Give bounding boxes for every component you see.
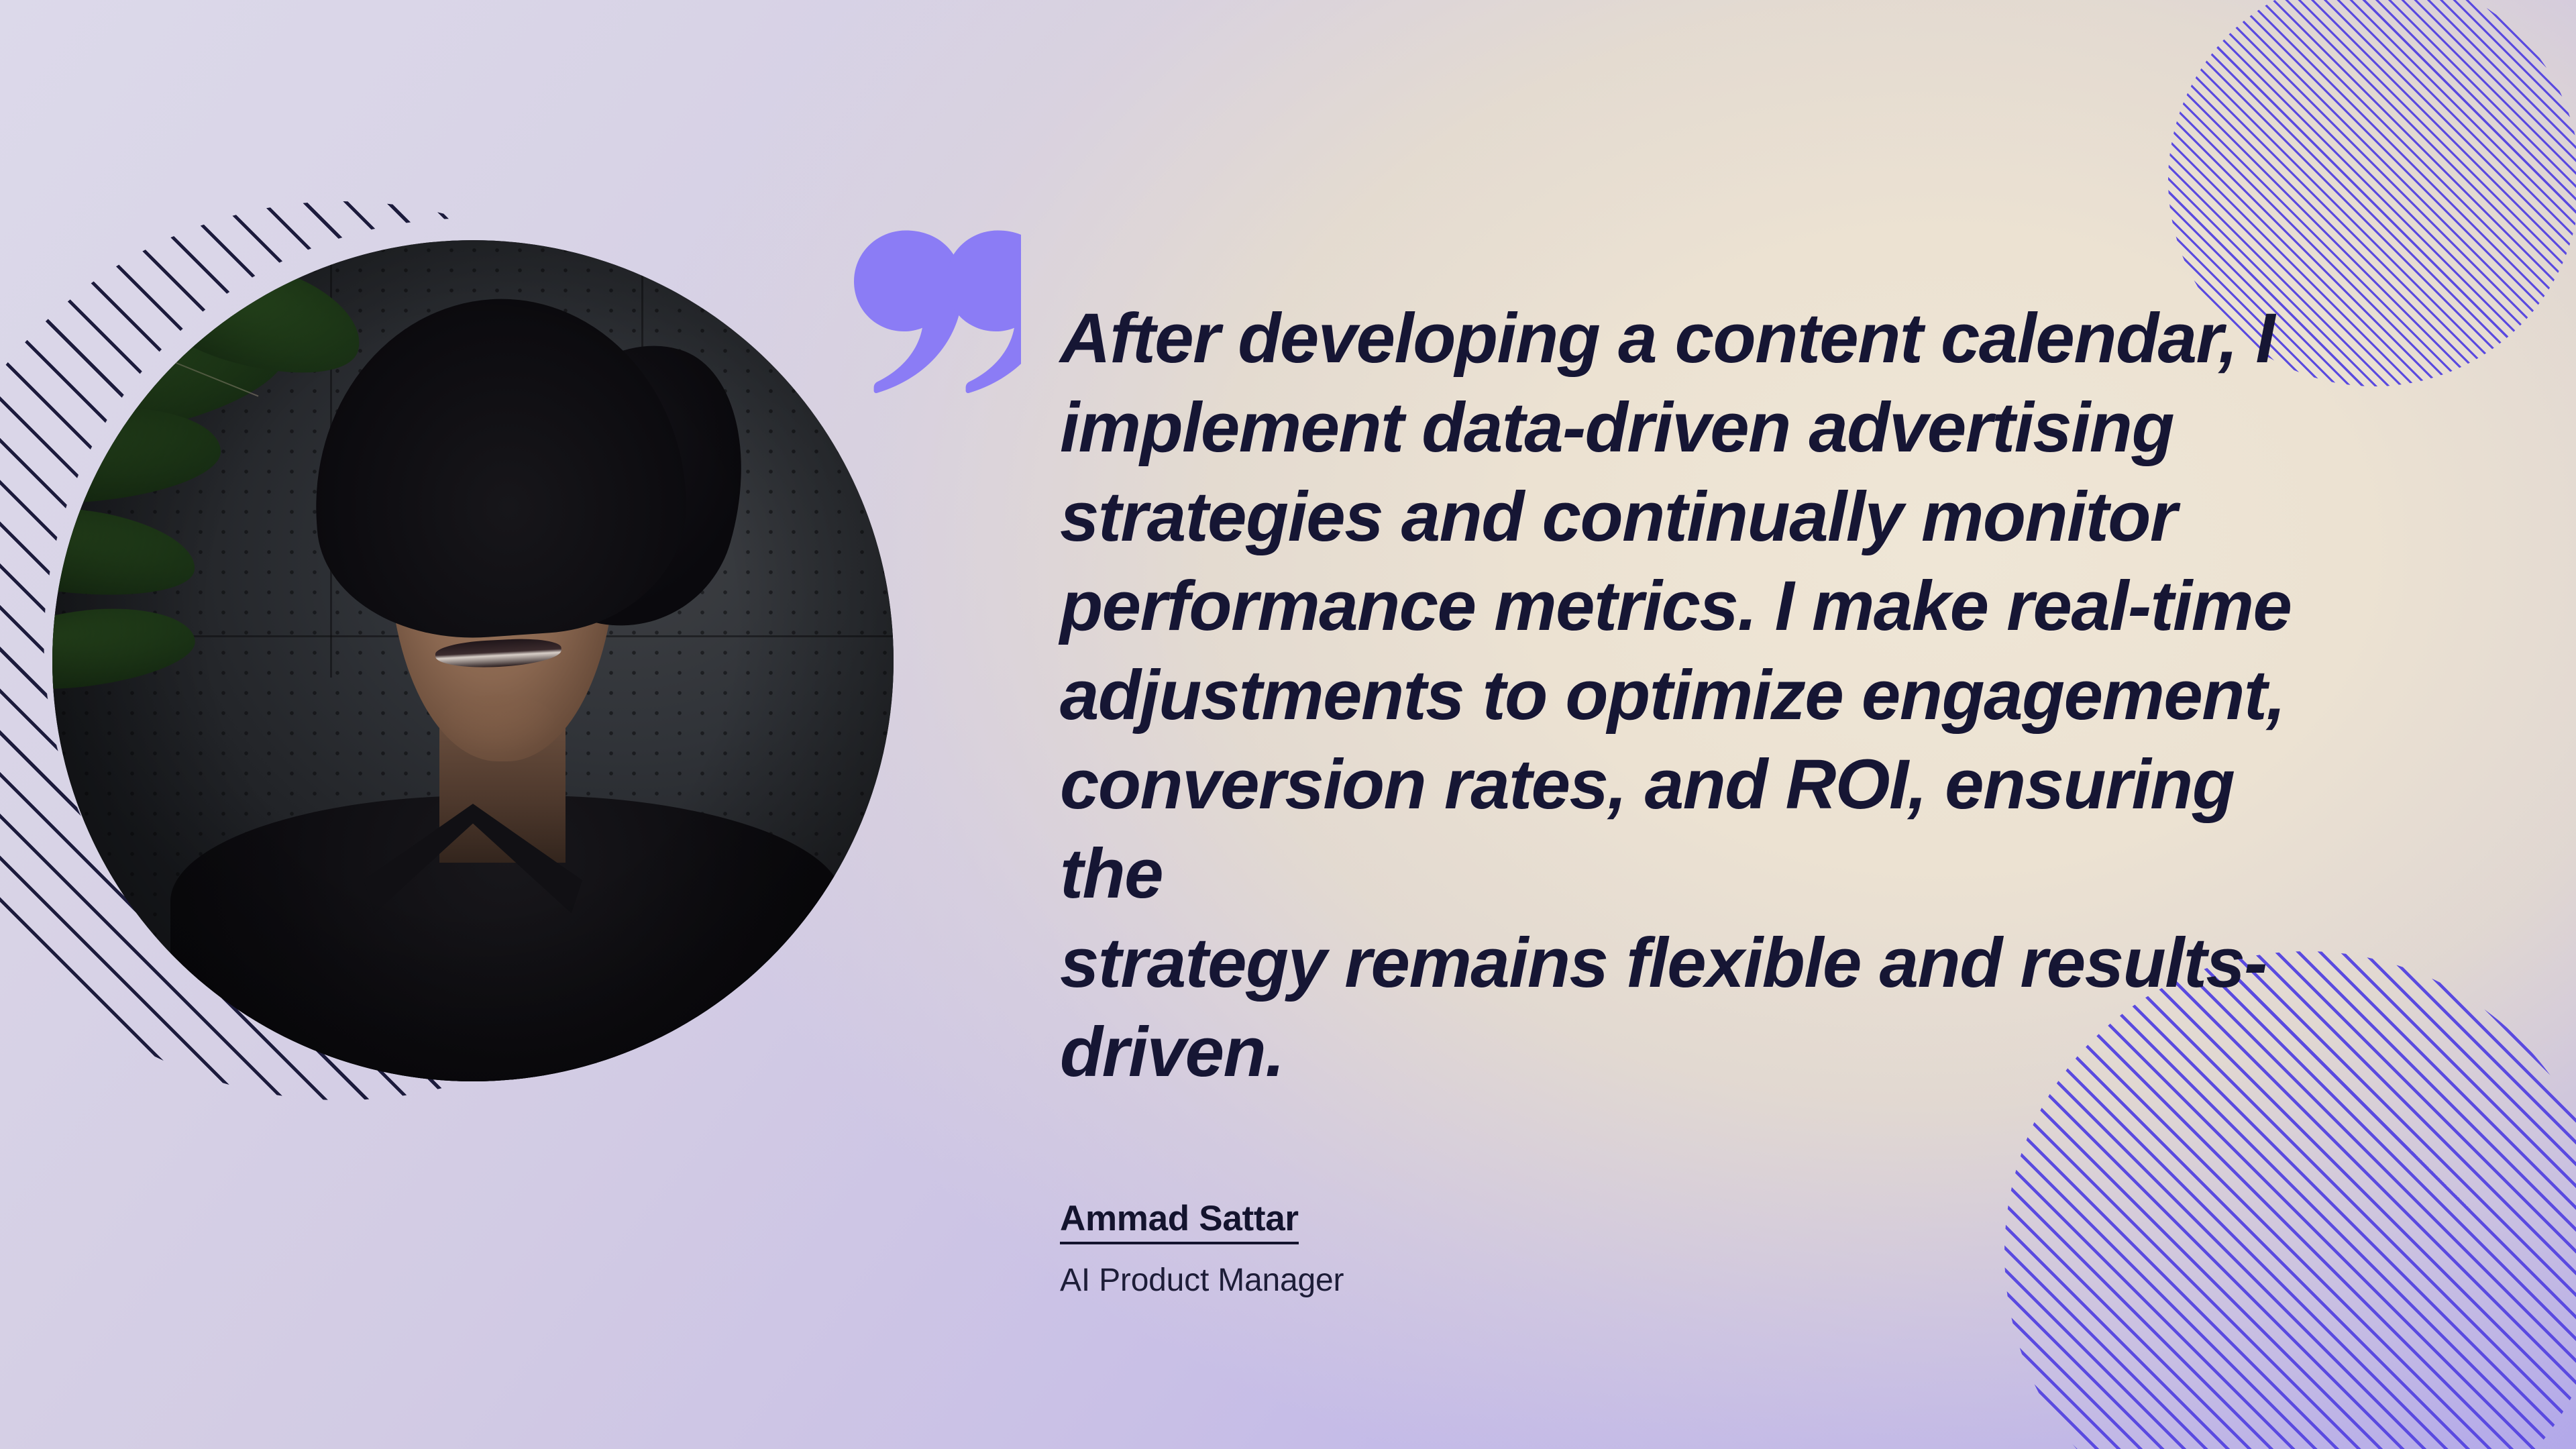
author-role: AI Product Manager — [1060, 1262, 1999, 1299]
testimonial-slide: After developing a content calendar, Iim… — [0, 0, 2576, 1449]
quote-text: After developing a content calendar, Iim… — [1060, 294, 2334, 1097]
portrait-avatar — [52, 240, 894, 1081]
attribution: Ammad Sattar AI Product Manager — [1060, 1199, 1999, 1299]
author-name: Ammad Sattar — [1060, 1199, 1299, 1244]
closing-double-quote-icon — [826, 221, 1021, 402]
photo-vignette — [52, 240, 894, 1081]
quote-text-block: After developing a content calendar, Iim… — [1060, 294, 2334, 1097]
